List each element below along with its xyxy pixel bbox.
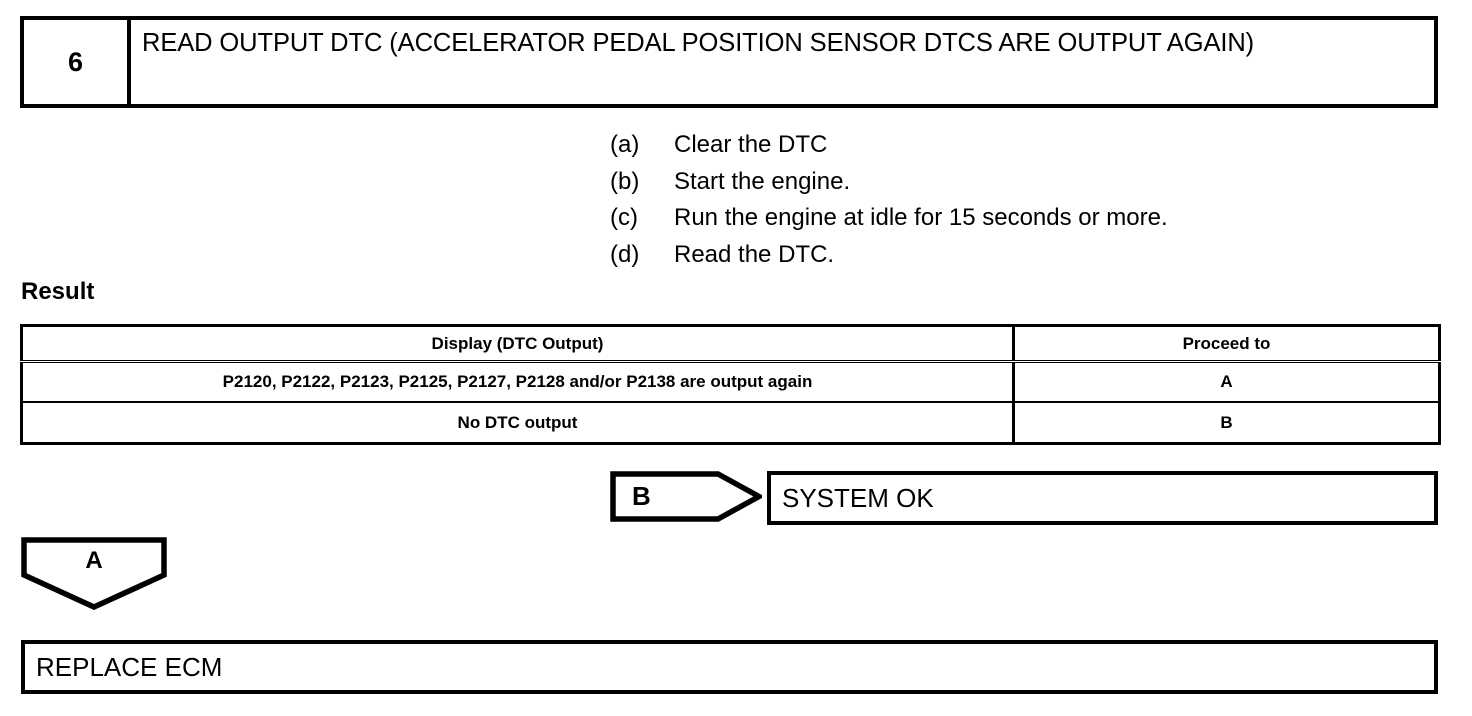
cell-proceed-to: A [1014,362,1440,403]
replace-ecm-box: REPLACE ECM [21,640,1438,694]
replace-ecm-label: REPLACE ECM [36,652,222,683]
table-row: P2120, P2122, P2123, P2125, P2127, P2128… [22,362,1440,403]
procedure-step-marker: (d) [610,241,674,269]
procedure-step-marker: (c) [610,204,674,232]
procedure-step-item: (a) Clear the DTC [610,131,1410,168]
flow-connector-b: B [610,471,762,522]
flow-connector-a: A [21,537,167,610]
column-header-display: Display (DTC Output) [22,326,1014,362]
table-row: No DTC output B [22,402,1440,444]
table-header-row: Display (DTC Output) Proceed to [22,326,1440,362]
procedure-step-text: Clear the DTC [674,131,1410,159]
flow-connector-b-label: B [632,481,651,511]
procedure-step-text: Run the engine at idle for 15 seconds or… [674,204,1410,232]
flow-connector-a-label: A [21,547,167,575]
result-table: Display (DTC Output) Proceed to P2120, P… [20,324,1441,445]
procedure-step-item: (d) Read the DTC. [610,241,1410,278]
step-title-cell: READ OUTPUT DTC (ACCELERATOR PEDAL POSIT… [131,20,1434,104]
procedure-step-text: Start the engine. [674,168,1410,196]
system-ok-label: SYSTEM OK [782,483,934,514]
step-number: 6 [68,49,83,76]
cell-display: P2120, P2122, P2123, P2125, P2127, P2128… [22,362,1014,403]
cell-display: No DTC output [22,402,1014,444]
cell-proceed-to: B [1014,402,1440,444]
procedure-step-marker: (a) [610,131,674,159]
step-number-cell: 6 [24,20,131,104]
procedure-step-list: (a) Clear the DTC (b) Start the engine. … [610,131,1410,277]
procedure-step-item: (b) Start the engine. [610,168,1410,205]
procedure-step-text: Read the DTC. [674,241,1410,269]
result-label: Result [21,278,94,306]
procedure-step-marker: (b) [610,168,674,196]
step-title: READ OUTPUT DTC (ACCELERATOR PEDAL POSIT… [142,26,1434,61]
step-header-box: 6 READ OUTPUT DTC (ACCELERATOR PEDAL POS… [20,16,1438,108]
system-ok-box: SYSTEM OK [767,471,1438,525]
procedure-step-item: (c) Run the engine at idle for 15 second… [610,204,1410,241]
column-header-proceed-to: Proceed to [1014,326,1440,362]
